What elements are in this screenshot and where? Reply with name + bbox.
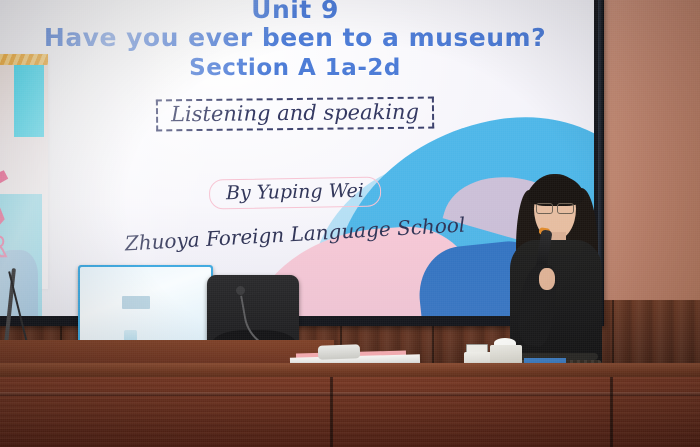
gooseneck-microphone-head (236, 286, 245, 295)
podium-front (0, 377, 700, 447)
slide-section-title: Section A 1a-2d (0, 57, 594, 80)
classroom-photo-scene: 八年级 下册 GO FOR IT! Unit 9 Have you ever b… (0, 0, 700, 447)
textbook-cover-graphic: 八年级 下册 GO FOR IT! (0, 54, 48, 289)
presenter-hair-front (528, 176, 584, 206)
presenter-name-label: By Yuping Wei (226, 180, 364, 204)
monitor-screen (80, 267, 211, 345)
monitor-sticker (122, 296, 150, 309)
computer-monitor (78, 265, 213, 347)
skill-box-label: Listening and speaking (171, 101, 419, 126)
slide-question-title: Have you ever been to a museum? (0, 25, 594, 50)
book-word-for: FOR (0, 230, 6, 263)
desk-phone (318, 344, 360, 359)
podium-lip (0, 392, 700, 396)
slide-unit-title: Unit 9 (0, 0, 594, 22)
presenter-name-box: By Yuping Wei (209, 177, 381, 210)
podium-seam-left (330, 377, 333, 447)
presenter-hand (539, 268, 555, 290)
eyeglasses-icon (536, 203, 574, 213)
podium-seam-right (610, 377, 613, 447)
skill-box: Listening and speaking (156, 97, 434, 132)
